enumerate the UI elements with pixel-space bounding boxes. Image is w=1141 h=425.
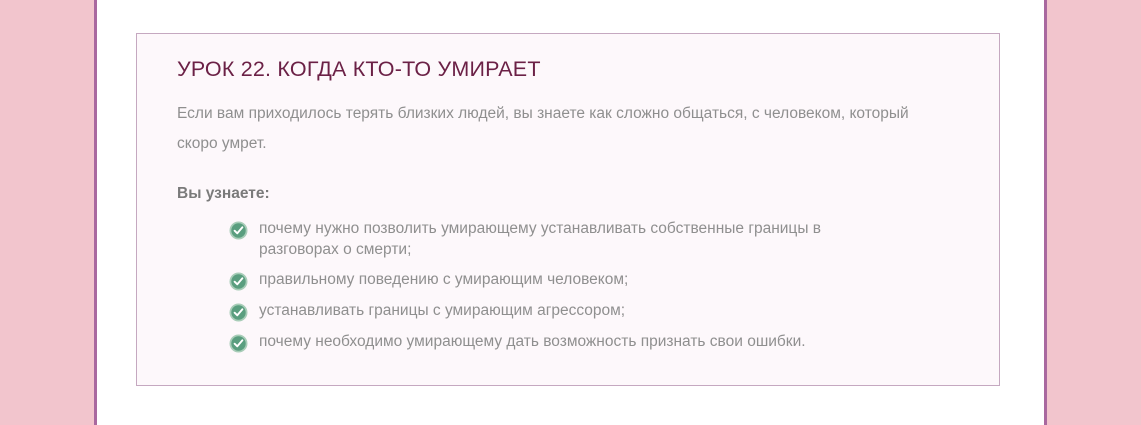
list-item-label: устанавливать границы с умирающим агресс…: [259, 301, 625, 322]
page-title: УРОК 22. КОГДА КТО-ТО УМИРАЕТ: [177, 57, 963, 83]
check-circle-icon: [229, 272, 248, 291]
list-item: правильному поведению с умирающим челове…: [229, 270, 963, 291]
page-gutter-right: [1044, 0, 1141, 425]
list-item: устанавливать границы с умирающим агресс…: [229, 301, 963, 322]
check-circle-icon: [229, 303, 248, 322]
lesson-card: УРОК 22. КОГДА КТО-ТО УМИРАЕТ Если вам п…: [136, 33, 1000, 386]
page-gutter-left: [0, 0, 97, 425]
check-circle-icon: [229, 334, 248, 353]
list-item: почему нужно позволить умирающему устана…: [229, 219, 963, 260]
benefits-list: почему нужно позволить умирающему устана…: [177, 219, 963, 353]
page-canvas: УРОК 22. КОГДА КТО-ТО УМИРАЕТ Если вам п…: [97, 0, 1044, 425]
benefits-subheading: Вы узнаете:: [177, 185, 963, 203]
list-item: почему необходимо умирающему дать возмож…: [229, 332, 963, 353]
list-item-label: правильному поведению с умирающим челове…: [259, 270, 628, 291]
list-item-label: почему необходимо умирающему дать возмож…: [259, 332, 806, 353]
list-item-label: почему нужно позволить умирающему устана…: [259, 219, 899, 260]
check-circle-icon: [229, 221, 248, 240]
lesson-intro-paragraph: Если вам приходилось терять близких люде…: [177, 99, 917, 159]
